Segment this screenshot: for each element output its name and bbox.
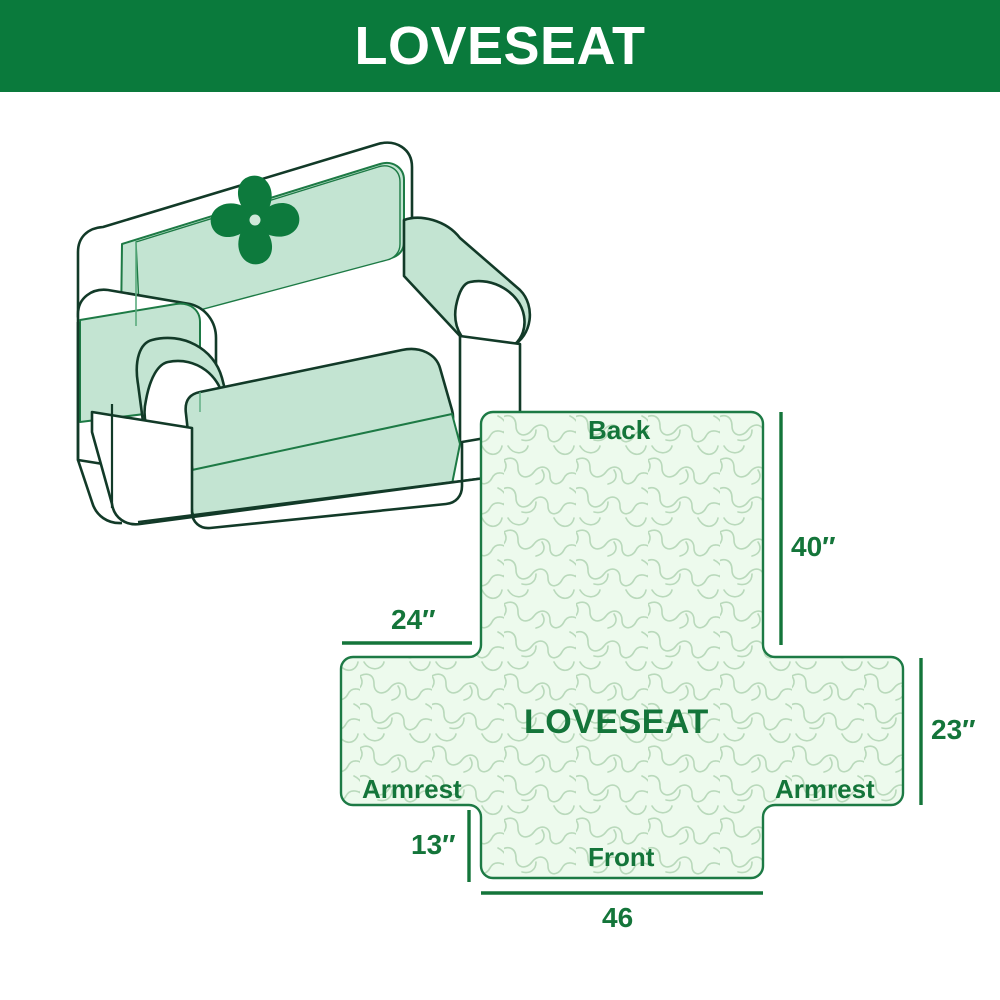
panel-label-front: Front	[588, 844, 654, 870]
panel-label-back: Back	[588, 417, 650, 443]
illustration-canvas	[0, 92, 1000, 1000]
loveseat-illustration	[78, 143, 530, 528]
dimension-label-46: 46	[602, 904, 633, 932]
panel-label-center: LOVESEAT	[524, 705, 709, 739]
panel-label-armrest-right: Armrest	[775, 776, 875, 802]
dimension-label-40: 40″	[791, 533, 836, 561]
diagram-stage: Back LOVESEAT Armrest Armrest Front 40″ …	[0, 92, 1000, 1000]
dimension-label-13: 13″	[411, 831, 456, 859]
dimension-label-23: 23″	[931, 716, 976, 744]
page-title: LOVESEAT	[354, 19, 645, 73]
dimension-label-24: 24″	[391, 606, 436, 634]
panel-label-armrest-left: Armrest	[362, 776, 462, 802]
header-banner: LOVESEAT	[0, 0, 1000, 92]
